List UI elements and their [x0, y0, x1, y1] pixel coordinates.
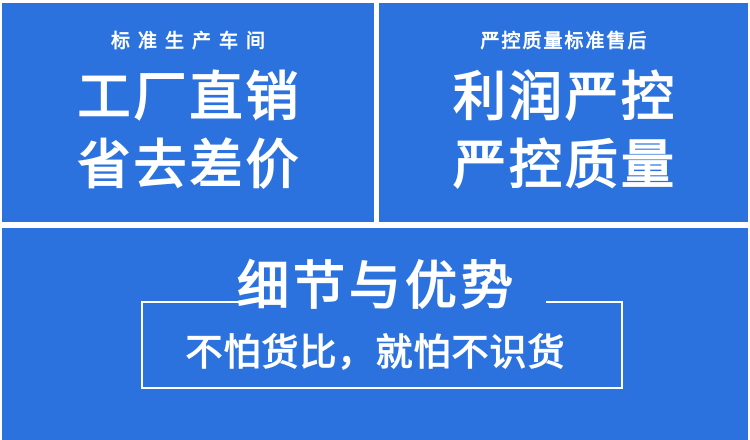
- details-subtitle: 不怕货比，就怕不识货: [2, 334, 748, 371]
- factory-headline-line-2: 省去差价: [75, 139, 302, 192]
- panel-factory-content: 标准生产车间 工厂直销 省去差价: [2, 3, 374, 222]
- panel-quality-content: 严控质量标准售后 利润严控 严控质量: [379, 3, 748, 222]
- quality-eyebrow-text: 严控质量标准售后: [478, 32, 648, 51]
- panel-details-advantages: 细节与优势 不怕货比，就怕不识货: [2, 228, 748, 440]
- factory-headline-line-1: 工厂直销: [75, 71, 302, 124]
- promo-banner: 标准生产车间 工厂直销 省去差价 严控质量标准售后 利润严控 严控质量 细节与优…: [0, 0, 750, 440]
- panel-quality-control: 严控质量标准售后 利润严控 严控质量: [379, 3, 748, 222]
- quality-headline-line-1: 利润严控: [450, 71, 677, 124]
- quality-headline-line-2: 严控质量: [450, 139, 677, 192]
- factory-eyebrow-text: 标准生产车间: [103, 32, 273, 51]
- details-title: 细节与优势: [2, 261, 748, 313]
- panel-factory-direct: 标准生产车间 工厂直销 省去差价: [2, 3, 374, 222]
